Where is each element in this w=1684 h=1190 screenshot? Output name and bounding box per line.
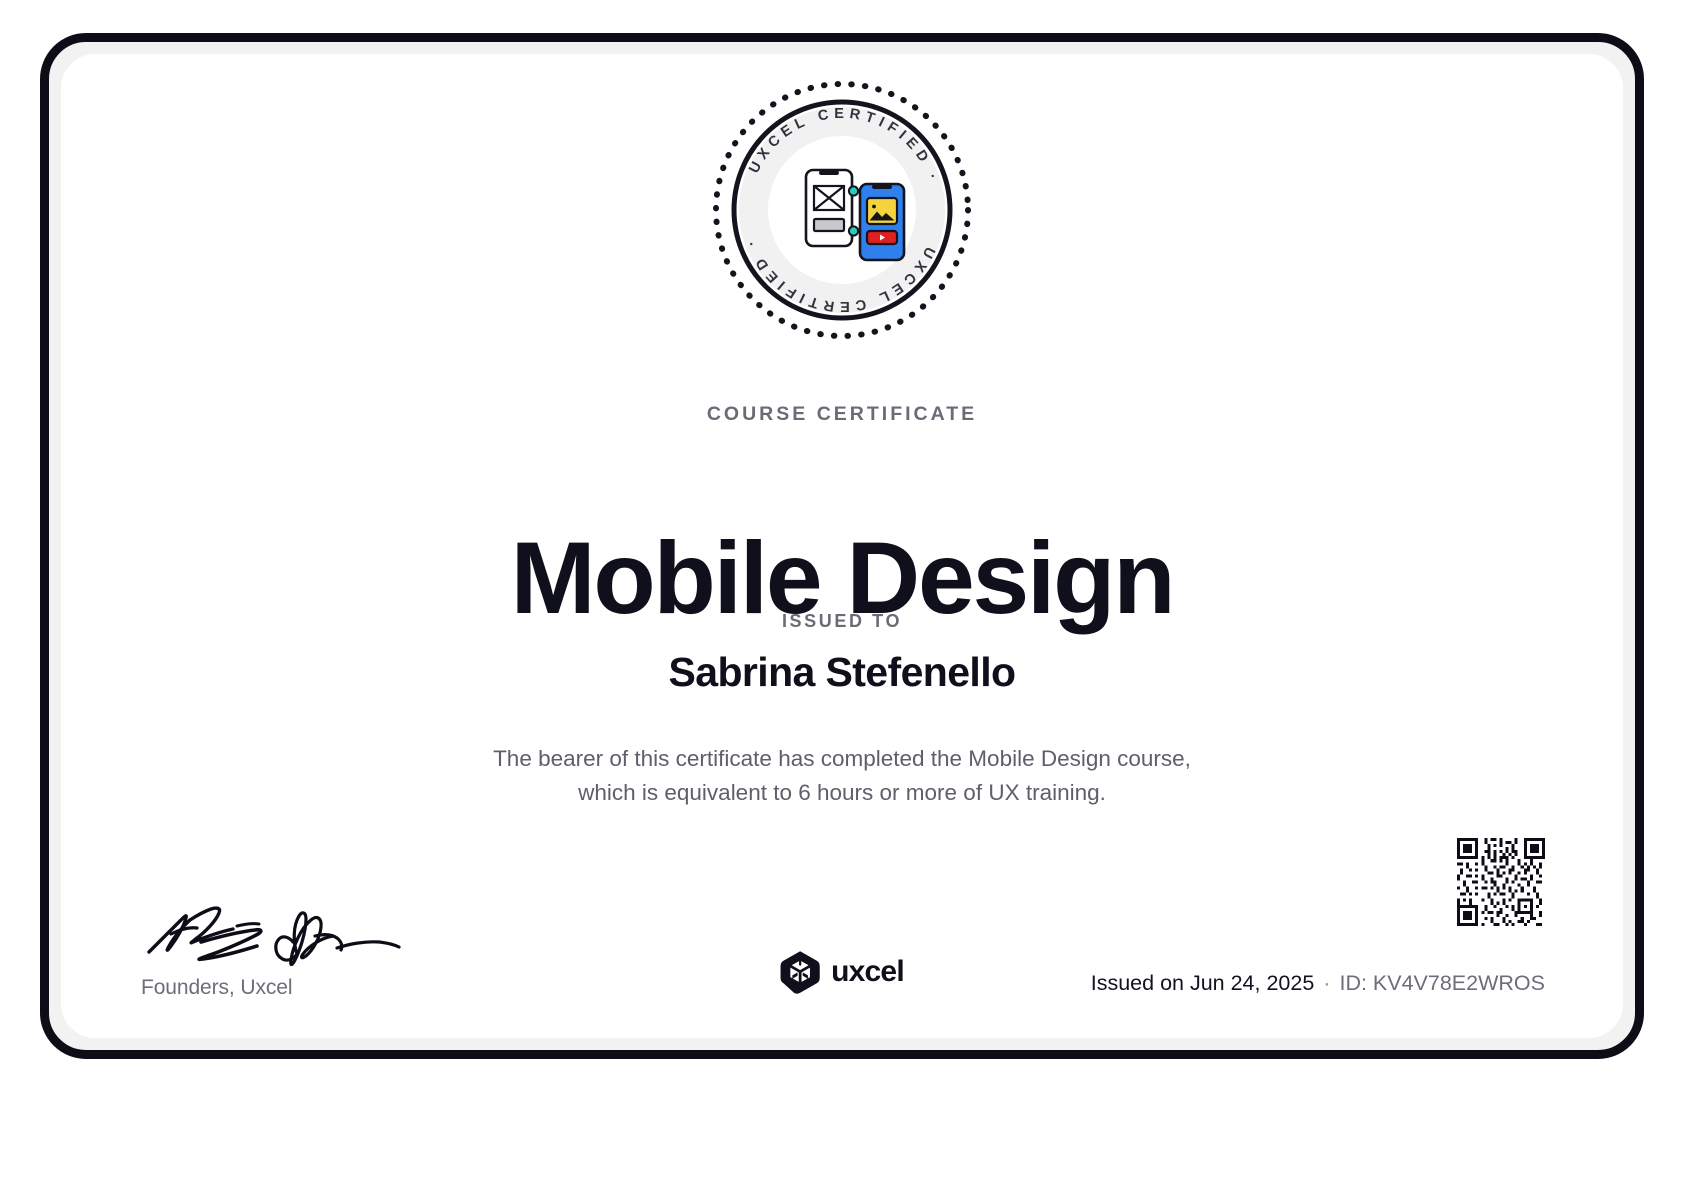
certificate-meta: Issued on Jun 24, 2025·ID: KV4V78E2WROS [1091,971,1545,996]
signature-caption: Founders, Uxcel [141,976,471,1000]
description-line-2: which is equivalent to 6 hours or more o… [392,776,1292,810]
qr-code-icon [1457,838,1545,926]
founder-signatures [141,880,471,972]
recipient-name: Sabrina Stefenello [61,649,1623,696]
badge-icon: UXCEL CERTIFIED · UXCEL CERTIFIED · [706,74,978,346]
certificate-eyebrow: COURSE CERTIFICATE [61,403,1623,426]
uxcel-certified-badge: UXCEL CERTIFIED · UXCEL CERTIFIED · [706,74,978,346]
certificate-frame: UXCEL CERTIFIED · UXCEL CERTIFIED · [40,33,1644,1059]
verification-qr-code[interactable] [1457,838,1545,926]
certificate-description: The bearer of this certificate has compl… [392,742,1292,810]
connector-handle-top [849,186,858,195]
meta-separator: · [1314,971,1339,995]
uxcel-cube-icon [780,950,820,994]
signature-block: Founders, Uxcel [141,880,471,1000]
wireframe-phone-icon [806,170,852,246]
connector-handle-bottom [849,226,858,235]
signature-icon [141,880,441,972]
certificate-footer: Founders, Uxcel uxc [61,838,1623,1038]
uxcel-wordmark: uxcel [831,955,904,989]
certificate-card: UXCEL CERTIFIED · UXCEL CERTIFIED · [61,54,1623,1038]
description-line-1: The bearer of this certificate has compl… [392,742,1292,776]
certificate-id: ID: KV4V78E2WROS [1339,971,1545,995]
uxcel-brand-logo: uxcel [780,950,904,994]
issued-to-label: ISSUED TO [61,611,1623,632]
blue-phone-icon [860,184,904,260]
issued-on-date: Issued on Jun 24, 2025 [1091,971,1315,995]
